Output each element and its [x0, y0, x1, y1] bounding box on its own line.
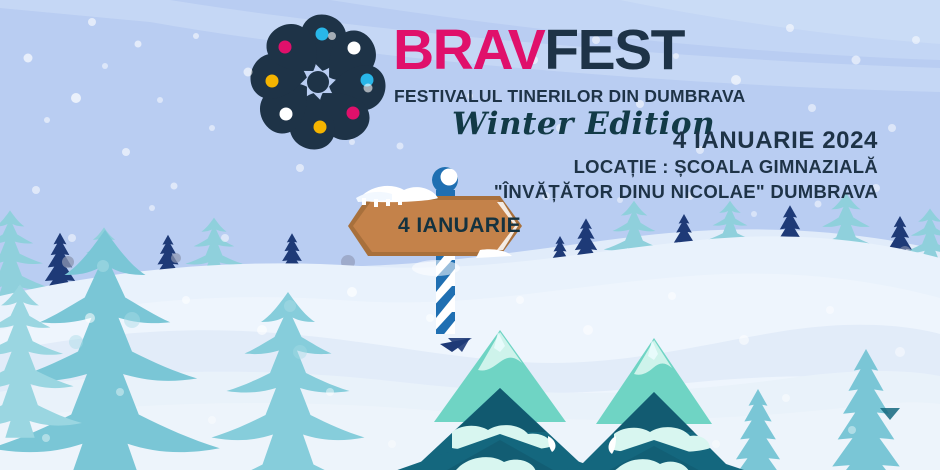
event-location-line1: LOCAȚIE : ȘCOALA GIMNAZIALĂ: [494, 155, 878, 179]
winter-festival-poster: BRAVFEST FESTIVALUL TINERILOR DIN DUMBRA…: [0, 0, 940, 470]
event-info-block: 4 IANUARIE 2024 LOCAȚIE : ȘCOALA GIMNAZI…: [494, 126, 878, 204]
event-location-line2: "ÎNVĂȚĂTOR DINU NICOLAE" DUMBRAVA: [494, 180, 878, 204]
brand-subtitle: FESTIVALUL TINERILOR DIN DUMBRAVA: [394, 86, 745, 107]
brand-wordmark: BRAVFEST: [393, 22, 684, 79]
signpost-label: 4 IANUARIE: [398, 214, 521, 238]
wordmark-brav: BRAV: [393, 18, 544, 82]
event-date: 4 IANUARIE 2024: [494, 126, 878, 155]
wordmark-fest: FEST: [544, 18, 684, 82]
